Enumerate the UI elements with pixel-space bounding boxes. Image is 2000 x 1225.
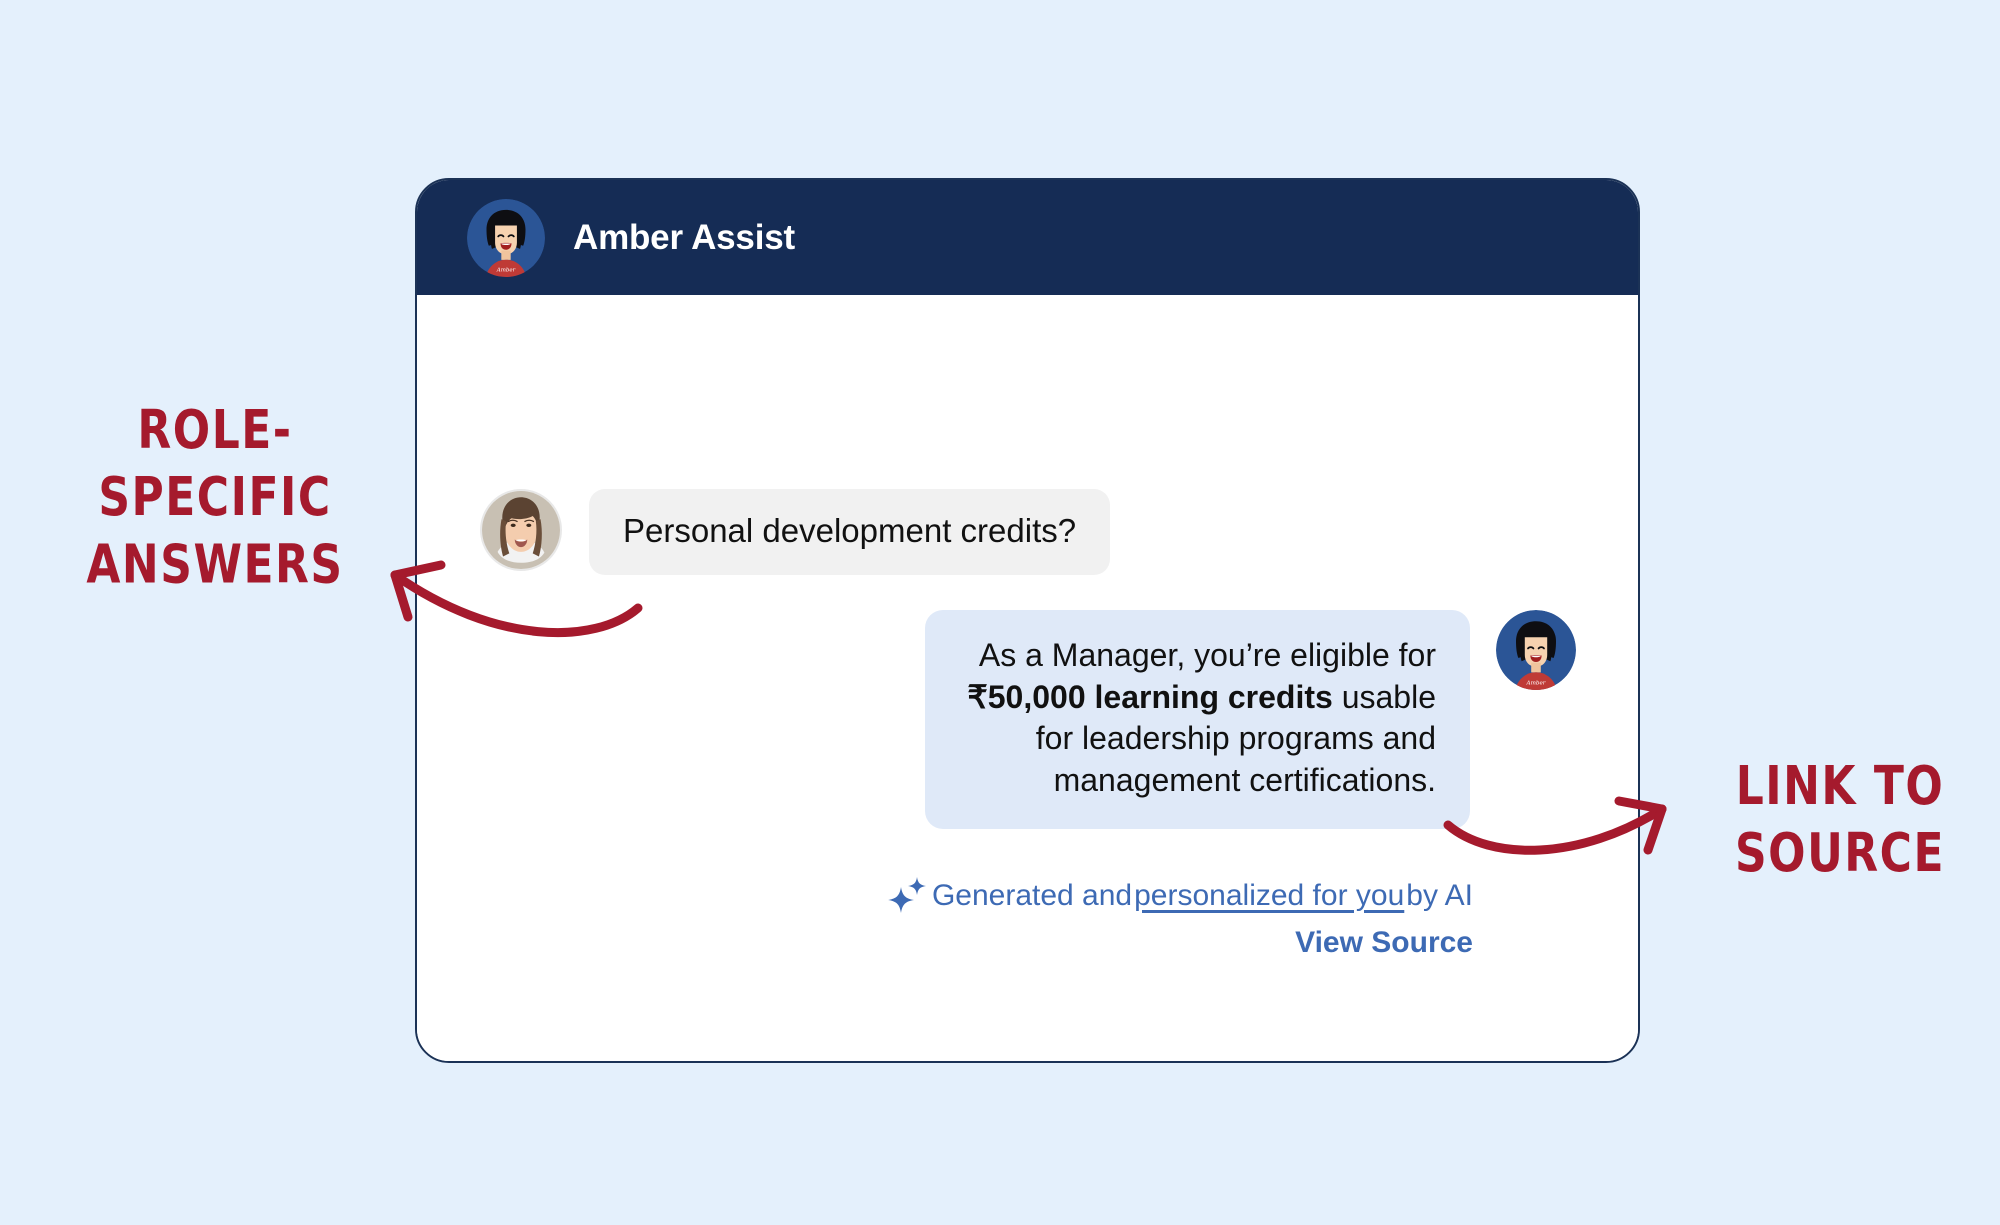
chat-body: Personal development credits? As a Manag… (417, 295, 1638, 1061)
curved-arrow-pointing-right (1440, 785, 1700, 900)
svg-text:Amber: Amber (1526, 680, 1546, 686)
curved-arrow-pointing-left (320, 535, 680, 675)
user-message-text: Personal development credits? (623, 511, 1076, 551)
ai-generated-prefix: Generated and (932, 877, 1132, 915)
annotation-right-line-1: LINK TO (1690, 753, 1990, 820)
view-source-link[interactable]: View Source (1295, 926, 1473, 960)
page-background: Amber Amber Assist (0, 0, 2000, 1225)
assistant-text-part-1: As a Manager, you’re eligible for (979, 637, 1436, 673)
assistant-text-highlight: ₹50,000 learning credits (967, 679, 1332, 715)
ai-generation-footer: Generated and personalized for you by AI… (853, 875, 1473, 960)
amber-assistant-avatar-icon: Amber (467, 199, 545, 277)
svg-text:Amber: Amber (496, 267, 516, 273)
page-title: Amber Assist (573, 218, 795, 258)
annotation-left-line-1: ROLE-SPECIFIC (55, 397, 375, 531)
annotation-right-line-2: SOURCE (1690, 820, 1990, 887)
assistant-message-bubble: As a Manager, you’re eligible for ₹50,00… (925, 610, 1470, 829)
assistant-message-text: As a Manager, you’re eligible for ₹50,00… (959, 635, 1436, 801)
amber-assistant-avatar-icon: Amber (1496, 610, 1576, 690)
sparkle-icon (886, 875, 930, 917)
card-header: Amber Amber Assist (417, 180, 1638, 295)
personalized-for-you-link[interactable]: personalized for you (1134, 877, 1404, 915)
annotation-link-to-source: LINK TO SOURCE (1690, 753, 1990, 887)
ai-generated-line: Generated and personalized for you by AI (853, 875, 1473, 917)
